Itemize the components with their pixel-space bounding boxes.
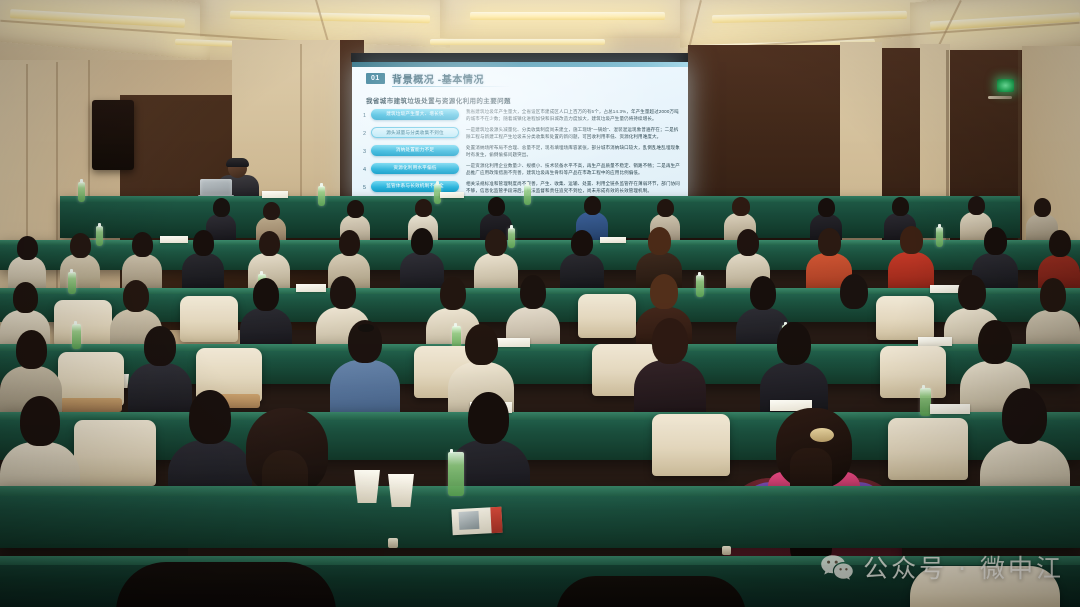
attendee-hair	[777, 322, 811, 365]
attendee-hair	[840, 274, 868, 309]
water-bottle	[318, 186, 325, 206]
attendee-hair	[17, 236, 38, 260]
laptop-screen	[200, 179, 232, 196]
handout-paper	[930, 404, 970, 414]
attendee-hair	[978, 320, 1012, 364]
chair	[74, 420, 156, 486]
attendee-hair	[732, 197, 750, 216]
slide-title: 背景概况 -基本情况	[392, 71, 484, 86]
slide-item-label: 建筑垃圾产生量大、增长快	[386, 111, 444, 117]
water-bottle	[68, 272, 76, 294]
attendee-hair	[958, 275, 986, 310]
attendee-hair	[900, 226, 923, 254]
attendee-hair	[968, 196, 985, 215]
presenter-cap	[226, 158, 249, 167]
attendee-hair	[520, 275, 546, 309]
attendee	[60, 233, 100, 291]
attendee-hair	[70, 233, 91, 258]
slide-item-number: 5	[358, 181, 371, 191]
attendee-hair	[571, 230, 593, 256]
slide-item-pill: 监管体系与长效机制不健全	[371, 181, 459, 192]
head-table-top	[60, 196, 1020, 202]
slide-item: 5 监管体系与长效机制不健全 相关法规标准和管理制度尚不完善，产生、收集、运输、…	[358, 181, 682, 195]
attendee-hair	[750, 276, 776, 310]
audience-table-row	[0, 486, 1080, 548]
slide-item: 3 消纳处置能力不足 处置消纳场所布局不合理、总量不足，现有填埋场库容紧张，部分…	[358, 145, 682, 159]
attendee-hair	[652, 318, 688, 364]
attendee-hair	[818, 198, 835, 217]
conference-booklet	[451, 507, 502, 536]
chair	[880, 346, 946, 398]
water-bottle	[524, 185, 531, 205]
attendee-hair	[818, 228, 841, 256]
water-bottle	[936, 227, 943, 247]
slide-item-pill: 消纳处置能力不足	[371, 145, 459, 156]
slide-item-label: 源头减量与分类收集不到位	[386, 130, 444, 136]
chair	[876, 296, 934, 340]
slide-item: 2 源头减量与分类收集不到位 一是建筑垃圾源头减量化、分类收集制度尚未建立，施工…	[358, 127, 682, 141]
hair-tie	[358, 324, 374, 332]
paper-cup	[354, 470, 380, 503]
attendee-hair	[213, 198, 230, 217]
slide-item-pill: 建筑垃圾产生量大、增长快	[371, 109, 459, 120]
attendee-hair	[657, 199, 674, 217]
attendee-hair	[253, 278, 279, 311]
handout-paper	[440, 192, 464, 198]
table-clip	[388, 538, 398, 548]
attendee-hair	[16, 330, 47, 369]
foreground-attendee-silhouette	[116, 562, 336, 607]
slide-item-number: 3	[358, 145, 371, 155]
slide-title-rule	[392, 86, 512, 87]
slide-item: 1 建筑垃圾产生量大、增长快 我省建筑垃圾年产生量大，全省设区市建成区人口上百万…	[358, 109, 682, 123]
attendee-hair	[485, 229, 507, 256]
attendee-hair	[465, 324, 498, 365]
slide-subtitle: 我省城市建筑垃圾处置与资源化利用的主要问题	[366, 95, 511, 105]
slide-section-badge: 01	[366, 73, 385, 84]
hair-clip	[810, 428, 834, 442]
attendee-hair	[1049, 230, 1071, 257]
conference-room-photo: 01 背景概况 -基本情况 我省城市建筑垃圾处置与资源化利用的主要问题 1 建筑…	[0, 0, 1080, 607]
projector-screen: 01 背景概况 -基本情况 我省城市建筑垃圾处置与资源化利用的主要问题 1 建筑…	[352, 62, 688, 203]
attendee	[634, 318, 706, 426]
slide-item-number: 1	[358, 109, 371, 119]
attendee-hair	[584, 196, 601, 215]
attendee-hair	[415, 199, 432, 217]
chair	[910, 566, 1060, 607]
chair	[652, 414, 730, 476]
attendee-hair	[440, 277, 466, 310]
water-bottle	[72, 324, 81, 349]
attendee-hair	[330, 276, 356, 309]
attendee-hair	[144, 326, 176, 366]
slide-item-label: 消纳处置能力不足	[396, 147, 434, 153]
attendee-hair	[1034, 198, 1051, 217]
attendee-hair	[737, 229, 759, 256]
attendee-hair	[193, 230, 214, 256]
attendee-hair	[259, 231, 280, 256]
water-bottle	[696, 275, 704, 297]
attendee-hair	[1040, 278, 1066, 312]
door-handle	[988, 96, 1012, 99]
ceiling-light	[430, 39, 605, 45]
attendee	[888, 226, 934, 294]
attendee	[560, 230, 604, 292]
attendee	[182, 230, 224, 292]
attendee-hair	[20, 396, 60, 446]
slide-item-body: 一是资源化利用企业数量少、规模小、技术装备水平不高，再生产品质量不稳定、销路不畅…	[466, 163, 682, 177]
slide-item-body: 我省建筑垃圾年产生量大，全省设区市建成区人口上百万的有5个，占总14.3%，年产…	[466, 109, 682, 123]
slide-item-label: 资源化利用水平偏低	[393, 165, 436, 171]
slide-item-pill: 源头减量与分类收集不到位	[371, 127, 459, 138]
wall-speaker	[92, 100, 134, 170]
slide-item-pill: 资源化利用水平偏低	[371, 163, 459, 174]
slide-item-list: 1 建筑垃圾产生量大、增长快 我省建筑垃圾年产生量大，全省设区市建成区人口上百万…	[358, 109, 682, 199]
slide-item-number: 2	[358, 127, 371, 137]
attendee-hair	[892, 197, 909, 216]
slide-top-bar	[352, 62, 688, 67]
attendee-hair	[468, 392, 509, 444]
attendee-hair	[411, 228, 433, 255]
projector-screen-frame	[351, 53, 688, 62]
handout-paper	[262, 191, 288, 198]
attendee-hair	[123, 280, 149, 312]
attendee-hair	[132, 232, 153, 257]
chair	[54, 300, 112, 346]
attendee-hair	[263, 202, 280, 220]
booklet-spine	[490, 507, 502, 534]
water-bottle	[448, 452, 464, 496]
slide-item-number: 4	[358, 163, 371, 173]
slide-item-body: 相关法规标准和管理制度尚不完善，产生、收集、运输、处置、利用全链条监管存在薄弱环…	[466, 181, 682, 195]
table-clip	[722, 546, 731, 555]
slide-item: 4 资源化利用水平偏低 一是资源化利用企业数量少、规模小、技术装备水平不高，再生…	[358, 163, 682, 177]
attendee-hair	[648, 227, 671, 255]
handout-paper	[918, 337, 952, 346]
attendee-hair	[339, 230, 360, 256]
attendee-hair	[650, 274, 678, 309]
chair	[578, 294, 636, 338]
attendee-hair	[984, 227, 1007, 255]
attendee-hair	[1002, 388, 1047, 444]
attendee-hair	[488, 197, 505, 216]
attendee-hair	[13, 282, 38, 313]
foreground-attendee-silhouette	[556, 576, 746, 607]
table-top-edge	[0, 486, 1080, 496]
slide-item-body: 处置消纳场所布局不合理、总量不足，现有填埋场库容紧张，部分城市消纳缺口较大，乱倒…	[466, 145, 682, 159]
ceiling-light	[470, 12, 665, 20]
slide-item-body: 一是建筑垃圾源头减量化、分类收集制度尚未建立，施工现场“一锅烩”、混装混运现象普…	[466, 127, 682, 141]
water-bottle	[78, 182, 85, 202]
paper-cup	[388, 474, 414, 507]
booklet-cover-image	[459, 511, 480, 530]
attendee-hair	[347, 200, 364, 218]
emergency-exit-sign	[997, 79, 1014, 92]
